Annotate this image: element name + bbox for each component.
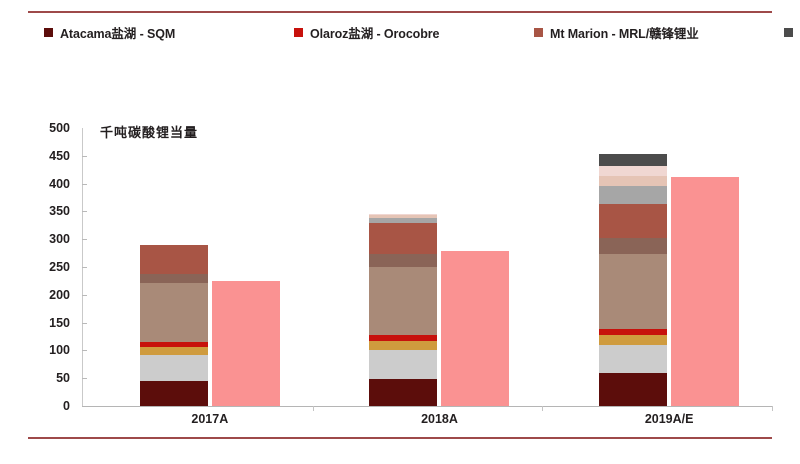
- x-axis-tick-label: 2018A: [421, 412, 458, 426]
- bar-segment[interactable]: [599, 186, 667, 204]
- supply-bar[interactable]: [212, 281, 280, 406]
- bar-segment[interactable]: [140, 347, 208, 355]
- bar-segment[interactable]: [369, 341, 437, 350]
- bar-group: [313, 122, 543, 406]
- legend-swatch-icon: [44, 28, 53, 37]
- x-axis-tick-label: 2017A: [191, 412, 228, 426]
- bar-segment[interactable]: [599, 204, 667, 238]
- legend-item[interactable]: Atacama盐湖 - SQM: [44, 20, 294, 44]
- y-axis-tick-label: 200: [49, 288, 70, 302]
- top-divider-rule: [28, 11, 772, 13]
- y-axis-tick-label: 350: [49, 204, 70, 218]
- bar-segment[interactable]: [369, 379, 437, 406]
- y-axis-tick-mark: [82, 323, 87, 324]
- bar-segment[interactable]: [369, 267, 437, 335]
- bar-segment[interactable]: [369, 223, 437, 255]
- y-axis-tick-label: 150: [49, 316, 70, 330]
- legend-item-label: Atacama盐湖 - SQM: [60, 23, 175, 42]
- y-axis-tick-label: 50: [56, 371, 70, 385]
- bottom-divider-rule: [28, 437, 772, 439]
- supply-bar[interactable]: [441, 251, 509, 406]
- legend-item-label: Olaroz盐湖 - Orocobre: [310, 23, 439, 42]
- y-axis-tick-mark: [82, 156, 87, 157]
- bar-segment[interactable]: [599, 335, 667, 344]
- legend-item[interactable]: Wodgina - 雅宝/MRL: [784, 20, 800, 44]
- bar-segment[interactable]: [599, 176, 667, 185]
- bar-segment[interactable]: [140, 283, 208, 342]
- bar-segment[interactable]: [140, 381, 208, 406]
- x-axis-line: [82, 406, 772, 407]
- bar-segment[interactable]: [140, 245, 208, 274]
- y-axis-tick-label: 100: [49, 343, 70, 357]
- legend-swatch-icon: [784, 28, 793, 37]
- y-axis-tick-mark: [82, 239, 87, 240]
- y-axis-tick-mark: [82, 267, 87, 268]
- y-axis-tick-label: 400: [49, 177, 70, 191]
- bar-segment[interactable]: [599, 254, 667, 329]
- legend-swatch-icon: [294, 28, 303, 37]
- legend-item-label: Mt Marion - MRL/赣锋锂业: [550, 23, 699, 42]
- y-axis-tick-mark: [82, 378, 87, 379]
- x-axis-tick-mark: [542, 406, 543, 411]
- y-axis-tick-label: 450: [49, 149, 70, 163]
- bar-group: [83, 122, 313, 406]
- chart-legend: Atacama盐湖 - SQMOlaroz盐湖 - OrocobreMt Mar…: [44, 20, 784, 44]
- y-axis-tick-label: 0: [63, 399, 70, 413]
- bar-segment[interactable]: [599, 345, 667, 373]
- stacked-bar[interactable]: [140, 245, 208, 406]
- bar-segment[interactable]: [369, 350, 437, 379]
- bar-segment[interactable]: [599, 373, 667, 406]
- bar-segment[interactable]: [599, 166, 667, 177]
- y-axis: 050100150200250300350400450500: [28, 122, 76, 406]
- y-axis-tick-mark: [82, 350, 87, 351]
- bars-container: 2017A2018A2019A/E: [83, 122, 772, 406]
- y-axis-tick-label: 300: [49, 232, 70, 246]
- legend-item[interactable]: Mt Marion - MRL/赣锋锂业: [534, 20, 784, 44]
- y-axis-tick-label: 250: [49, 260, 70, 274]
- bar-segment[interactable]: [599, 238, 667, 254]
- y-axis-tick-label: 500: [49, 121, 70, 135]
- bar-group: [542, 122, 772, 406]
- supply-bar[interactable]: [671, 177, 739, 406]
- bar-segment[interactable]: [140, 355, 208, 381]
- bar-segment[interactable]: [140, 274, 208, 283]
- x-axis-tick-mark: [313, 406, 314, 411]
- y-axis-tick-mark: [82, 295, 87, 296]
- chart-plot-area: 千吨碳酸锂当量 050100150200250300350400450500 2…: [28, 122, 772, 422]
- y-axis-tick-mark: [82, 211, 87, 212]
- legend-swatch-icon: [534, 28, 543, 37]
- bar-segment[interactable]: [369, 254, 437, 267]
- bar-segment[interactable]: [599, 329, 667, 336]
- x-axis-tick-label: 2019A/E: [645, 412, 694, 426]
- x-axis-tick-mark: [772, 406, 773, 411]
- legend-item[interactable]: Olaroz盐湖 - Orocobre: [294, 20, 534, 44]
- stacked-bar[interactable]: [599, 154, 667, 406]
- stacked-bar[interactable]: [369, 214, 437, 406]
- bar-segment[interactable]: [599, 154, 667, 166]
- y-axis-tick-mark: [82, 184, 87, 185]
